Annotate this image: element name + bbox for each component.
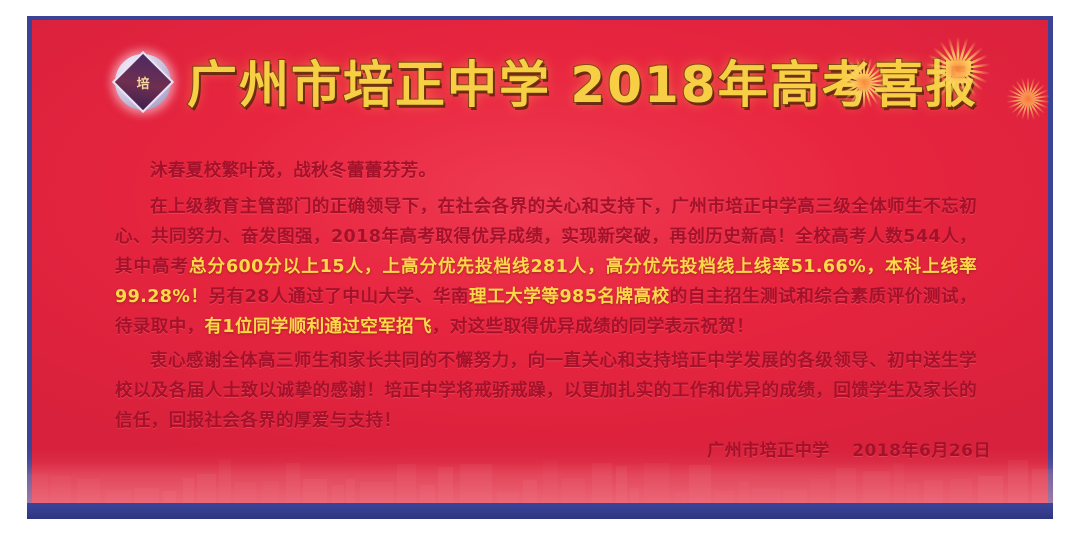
cityscape-building [303,479,327,503]
cityscape-building [978,476,1003,503]
screenshot-canvas: 培 广州市培正中学 2018年高考喜报 沐春夏校繁叶茂，战秋冬蕾蕾芬芳。 在上级… [0,0,1080,557]
firework-ray [1027,99,1029,121]
cityscape-building [689,465,711,503]
firework-ray [1028,95,1050,100]
cityscape-building [106,490,131,503]
firework-ray [1015,80,1028,100]
firework-icon-right [1027,98,1029,100]
cityscape-building [630,488,639,503]
p1-highlight-2: 理工大学等985名牌高校 [469,287,670,307]
school-crest-icon: 培 [115,54,171,110]
cityscape-building [714,491,735,503]
cityscape-building [523,480,537,503]
cityscape-building [77,479,100,503]
cityscape-building [863,471,890,503]
cityscape-building [234,482,256,503]
signature-school: 广州市培正中学 [707,441,830,461]
cityscape-building [332,485,344,503]
firework-ray [1021,99,1029,121]
firework-ray [1027,99,1040,119]
cityscape-building [924,480,943,503]
firework-ray [1006,98,1028,103]
p1-segment-4: ，对这些取得优异成绩的同学表示祝贺！ [432,317,754,337]
cityscape-building [783,490,807,503]
firework-ray [1027,77,1029,99]
cityscape-building [360,482,393,503]
cityscape-building [1008,460,1028,503]
firework-ray [1028,89,1049,100]
body-paragraph-2: 衷心感谢全体高三师生和家长共同的不懈努力，向一直关心和支持培正中学发展的各级领导… [115,346,977,436]
cityscape-building [894,463,904,503]
poster-frame-top [27,16,1053,20]
cityscape-building [644,463,669,503]
cityscape-building [134,488,159,503]
crest-label: 培 [137,72,149,91]
cityscape-building [562,478,585,503]
cityscape-building [438,467,453,503]
cityscape-building [420,485,435,503]
cityscape-building [739,481,749,503]
cityscape-building [543,460,558,503]
firework-ray [1028,98,1050,103]
firework-ray [1027,80,1040,100]
cityscape-building [163,491,176,503]
cityscape-building [346,479,355,503]
firework-ray [1027,84,1045,100]
poster-signature: 广州市培正中学 2018年6月26日 [707,436,991,461]
poster-body: 沐春夏校繁叶茂，战秋冬蕾蕾芬芳。 在上级教育主管部门的正确领导下，在社会各界的关… [115,156,977,440]
firework-ray [1006,95,1028,100]
cityscape-building [1032,469,1053,503]
poster-title: 广州市培正中学 2018年高考喜报 [187,44,987,118]
firework-ray [1011,98,1029,114]
cityscape-building [906,483,919,503]
body-lead-line: 沐春夏校繁叶茂，战秋冬蕾蕾芬芳。 [115,156,977,186]
firework-ray [1011,84,1029,100]
cityscape-building [675,492,687,503]
cityscape-building [810,479,830,503]
poster-frame-bottom-bar [27,503,1053,519]
poster-header: 培 广州市培正中学 2018年高考喜报 [27,40,1053,120]
cityscape-building [183,478,194,503]
cityscape-building [286,463,300,503]
firework-ray [1027,99,1035,121]
firework-ray [1027,78,1035,100]
firework-ray [1027,98,1045,114]
cityscape-building [197,474,216,503]
congratulation-poster: 培 广州市培正中学 2018年高考喜报 沐春夏校繁叶茂，战秋冬蕾蕾芬芳。 在上级… [27,16,1053,519]
cityscape-building [219,459,231,503]
firework-ray [1008,89,1029,100]
body-paragraph-1: 在上级教育主管部门的正确领导下，在社会各界的关心和支持下，广州市培正中学高三级全… [115,192,977,342]
firework-ray [1021,78,1029,100]
cityscape-building [836,468,856,503]
cityscape-building [27,474,48,503]
signature-date: 2018年6月26日 [852,441,991,461]
cityscape-building [51,476,71,503]
firework-ray [1008,98,1029,109]
cityscape-building [497,492,519,503]
cityscape-building [397,464,416,503]
firework-ray [1015,99,1028,119]
p1-segment-2: 另有28人通过了中山大学、华南 [209,287,469,307]
cityscape-building [752,488,781,503]
cityscape-building [262,481,279,503]
p1-highlight-3: 有1位同学顺利通过空军招飞 [205,317,432,337]
cityscape-building [460,464,492,503]
firework-ray [1028,98,1049,109]
cityscape-building [950,479,972,503]
cityscape-building [616,466,627,503]
cityscape-building [592,463,612,503]
